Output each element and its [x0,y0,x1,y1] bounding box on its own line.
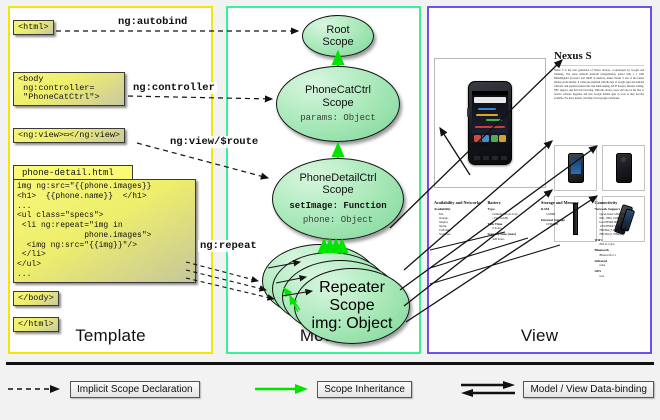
code-box-body-open: <body ng:controller= "PhoneCatCtrl"> [13,72,125,106]
spec-column-header: Storage and Memory [541,200,591,205]
legend-item-databinding: Model / View Data-binding [459,380,654,398]
scope-phonecatctrl: PhoneCatCtrl Scope params: Object [276,66,400,142]
legend-label-databinding: Model / View Data-binding [523,381,654,398]
phone-device-image [468,81,512,165]
double-arrow-icon [459,380,517,398]
arrow-label-ng-repeat: ng:repeat [198,240,259,252]
app-icon-3 [491,135,498,142]
scope-phonedetailctrl-prop1: setImage: Function [289,201,386,212]
code-box-html-open: <html> [13,20,54,35]
legend-label-inheritance: Scope Inheritance [317,381,412,398]
view-column-label: View [429,326,650,346]
spec-column-header: Connectivity [595,200,645,205]
phone-button-search [501,156,507,160]
view-specs-table: Availability and NetworksAvailabilityM1,… [434,200,644,278]
spec-column-header: Battery [488,200,538,205]
view-phone-title: Nexus S [554,50,592,62]
arrow-label-ng-autobind: ng:autobind [116,16,189,28]
spec-column: Storage and MemoryRAM512MBInternal Stora… [541,200,591,278]
phone-screen [472,91,508,147]
spec-value: 428 hours [488,237,538,241]
spec-column: Availability and NetworksAvailabilityM1,… [434,200,484,278]
scope-phonecatctrl-line2: Scope [322,97,353,109]
arrow-label-ng-view-route: ng:view/$route [168,136,260,148]
app-icon-4 [499,135,506,142]
phone-volume-button [467,108,469,117]
spec-column-header: Availability and Networks [434,200,484,205]
phone-button-menu [483,156,489,160]
phone-detail-note: phone-detail.html img ng:src="{{phone.im… [13,165,196,283]
scope-root-line1: Root [326,24,349,36]
scope-phonedetailctrl: PhoneDetailCtrl Scope setImage: Function… [272,158,404,240]
scope-phonedetailctrl-prop2: phone: Object [303,215,373,226]
code-box-body-close: </body> [13,291,59,306]
spec-value: true [595,274,645,278]
angular-scope-diagram: Template Model View <html> <body ng:cont… [0,0,660,420]
spec-value: 512MB [541,212,591,216]
legend-label-implicit: Implicit Scope Declaration [70,381,200,398]
scope-phonedetailctrl-line1: PhoneDetailCtrl [299,172,376,184]
phone-front-icon [568,153,584,183]
wallpaper-line-red [475,126,505,128]
scope-repeater-line2: Scope [329,297,374,315]
view-thumbnail-phone-front[interactable] [554,145,597,191]
code-box-ng-view: <ng:view>▭</ng:view> [13,128,125,143]
phone-main-image-frame [434,58,546,188]
spec-value: false [595,263,645,267]
view-title-rule [554,65,644,66]
app-icon-2 [482,135,489,142]
dashed-arrow-icon [6,382,64,396]
spec-value: HSUPA (5.76Mbps) [595,232,645,236]
scope-repeater-prop: img: Object [312,315,393,333]
legend-divider [6,362,654,365]
legend-item-inheritance: Scope Inheritance [253,381,412,398]
wallpaper-line-yellow [476,114,498,116]
scope-repeater-line1: Repeater [319,279,385,297]
phone-detail-note-code: img ng:src="{{phone.images}} <h1> {{phon… [13,179,196,283]
scope-root: Root Scope [302,15,374,57]
spec-value: 6 hours [488,226,538,230]
legend: Implicit Scope Declaration Scope Inherit… [6,372,654,406]
wallpaper-line-green [486,119,502,121]
legend-item-implicit: Implicit Scope Declaration [6,381,200,398]
spec-column: ConnectivityNetwork SupportQuad-band GSM… [595,200,645,278]
phone-button-home [492,156,498,160]
app-icon-1 [474,135,481,142]
scope-setimage-prop: setImage: Function [289,201,386,211]
wallpaper-line-blue [478,108,496,110]
view-thumbnail-phone-back[interactable] [602,145,645,191]
scope-phonecatctrl-line1: PhoneCatCtrl [305,84,371,96]
spec-column: BatteryTypeLithium Ion (Li-Ion)(1500 mAH… [488,200,538,278]
phone-app-dock [472,133,508,143]
spec-value: 802.11 b/g/n [595,242,645,246]
scope-repeater: Repeater Scope img: Object [294,268,410,344]
phone-status-bar [472,91,508,95]
spec-value: 16384MB [541,222,591,226]
green-arrow-icon [253,382,311,396]
scope-repeater-stack: Repeater Scope img: Object [262,240,410,345]
phone-button-back [474,156,480,160]
view-phone-description: Nexus S is the next generation of Nexus … [554,69,644,101]
phone-detail-note-title: phone-detail.html [13,165,133,179]
phone-wallpaper [472,103,508,133]
spec-value: Vodafone [434,232,484,236]
scope-phonecatctrl-prop: params: Object [300,113,376,124]
scope-phonedetailctrl-line2: Scope [322,184,353,196]
code-box-html-close: </html> [13,317,59,332]
spec-value: (1500 mAH) [488,216,538,220]
arrow-label-ng-controller: ng:controller [131,82,217,94]
phone-hardware-buttons [472,156,508,160]
view-rendered-page: Nexus S Nexus S is the next generation o… [434,50,644,298]
scope-root-line2: Scope [322,36,353,48]
phone-back-icon [616,153,632,183]
spec-value: Bluetooth 2.1 [595,253,645,257]
